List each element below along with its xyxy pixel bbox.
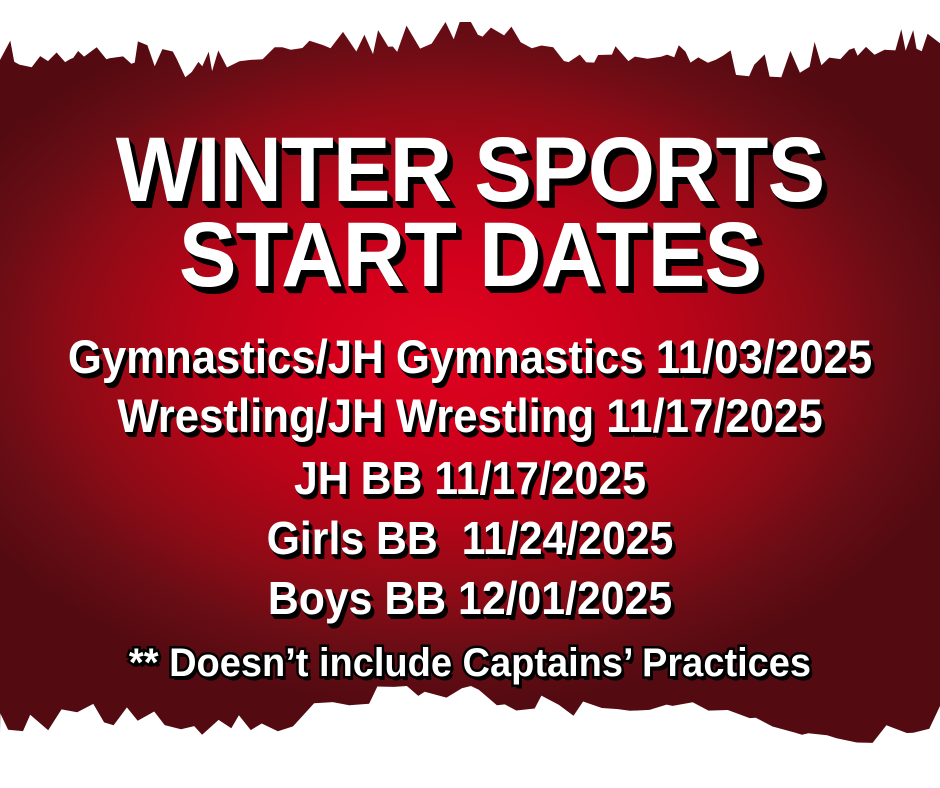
poster-title-line-1: WINTER SPORTS	[28, 127, 912, 214]
winter-sports-poster: WINTER SPORTS START DATES Gymnastics/JH …	[0, 0, 940, 788]
sport-start-date-row: Girls BB 11/24/2025	[33, 515, 907, 561]
sport-start-date-row: Wrestling/JH Wrestling 11/17/2025	[33, 392, 907, 439]
sport-start-date-row: Gymnastics/JH Gymnastics 11/03/2025	[33, 333, 907, 380]
poster-footnote: ** Doesn’t include Captains’ Practices	[24, 643, 917, 683]
sport-start-date-row: JH BB 11/17/2025	[33, 455, 907, 501]
poster-content: WINTER SPORTS START DATES Gymnastics/JH …	[0, 0, 940, 788]
poster-title-line-2: START DATES	[28, 212, 912, 299]
sport-start-date-row: Boys BB 12/01/2025	[33, 575, 907, 621]
